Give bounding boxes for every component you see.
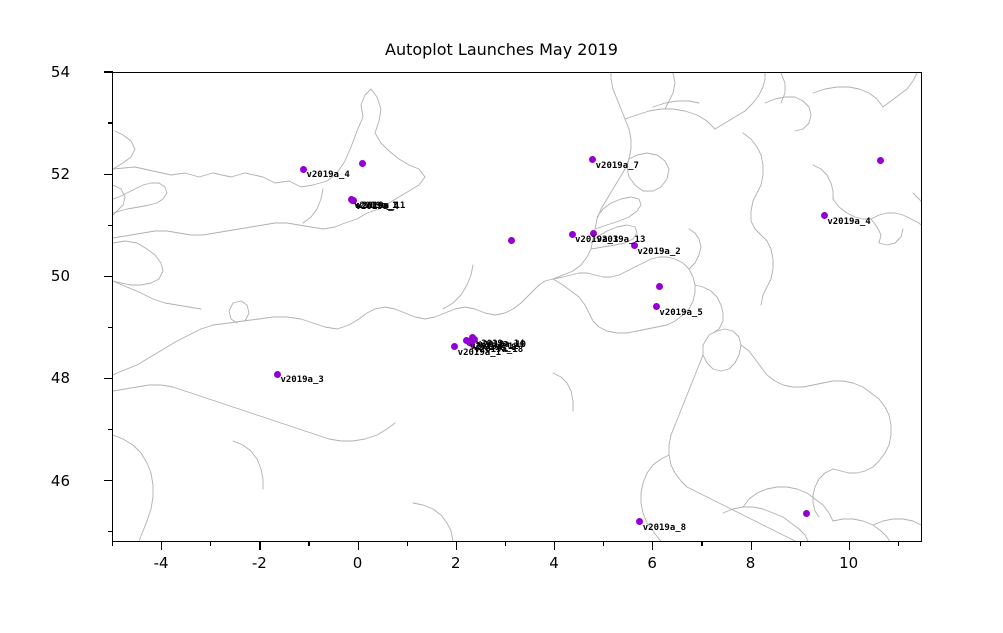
xtick-minor--1 (308, 541, 309, 546)
xtick-minor--3 (210, 541, 211, 546)
xtick-label-2: 2 (416, 554, 496, 572)
data-point-label: v2019a_3 (280, 376, 323, 385)
ytick-minor-53 (108, 122, 113, 123)
ytick-label-46: 46 (0, 472, 80, 490)
xtick-mark-4 (554, 541, 555, 550)
xtick-label-10: 10 (809, 554, 889, 572)
xtick-mark-6 (652, 541, 653, 550)
xtick-minor-11 (898, 541, 899, 546)
figure-canvas: Autoplot Launches May 2019 (0, 0, 1003, 633)
xtick-label-4: 4 (514, 554, 594, 572)
ytick-label-52: 52 (0, 165, 80, 183)
xtick-minor-5 (603, 541, 604, 546)
ytick-mark-46 (104, 480, 113, 481)
data-point-label: v2019a_13 (597, 236, 646, 245)
data-point-marker[interactable] (656, 283, 663, 290)
ytick-label-50: 50 (0, 267, 80, 285)
data-point-label: v2019a_8 (473, 344, 516, 353)
ytick-minor-45 (108, 531, 113, 532)
ytick-minor-47 (108, 429, 113, 430)
page-title: Autoplot Launches May 2019 (0, 40, 1003, 59)
xtick-mark--4 (161, 541, 162, 550)
xtick-minor--5 (112, 541, 113, 546)
ytick-minor-49 (108, 327, 113, 328)
xtick-mark-10 (849, 541, 850, 550)
xtick-minor-1 (407, 541, 408, 546)
coastline-map (113, 73, 922, 542)
xtick-minor-9 (800, 541, 801, 546)
data-point-label: v2019a_2 (637, 248, 680, 257)
ytick-mark-50 (104, 276, 113, 277)
xtick-mark-2 (456, 541, 457, 550)
xtick-label--4: -4 (121, 554, 201, 572)
xtick-label--2: -2 (219, 554, 299, 572)
ytick-mark-48 (104, 378, 113, 379)
xtick-mark-8 (751, 541, 752, 550)
data-point-label: v2019a_4 (306, 171, 349, 180)
data-point-label: v2019a_7 (596, 162, 639, 171)
xtick-mark-0 (358, 541, 359, 550)
ytick-mark-52 (104, 174, 113, 175)
data-point-label: v2019a_5 (659, 309, 702, 318)
data-point-label: v2019a_8 (643, 524, 686, 533)
ytick-mark-54 (104, 71, 113, 72)
xtick-minor-3 (505, 541, 506, 546)
ytick-label-54: 54 (0, 63, 80, 81)
xtick-mark--2 (259, 541, 260, 550)
data-point-label: v2019a_11 (357, 202, 406, 211)
xtick-minor-7 (701, 541, 702, 546)
xtick-label-8: 8 (711, 554, 791, 572)
xtick-label-0: 0 (318, 554, 398, 572)
ytick-minor-51 (108, 225, 113, 226)
plot-axes[interactable] (112, 72, 922, 542)
xtick-label-6: 6 (612, 554, 692, 572)
data-point-marker[interactable] (508, 237, 515, 244)
data-point-label: v2019a_4 (827, 218, 870, 227)
ytick-label-48: 48 (0, 369, 80, 387)
